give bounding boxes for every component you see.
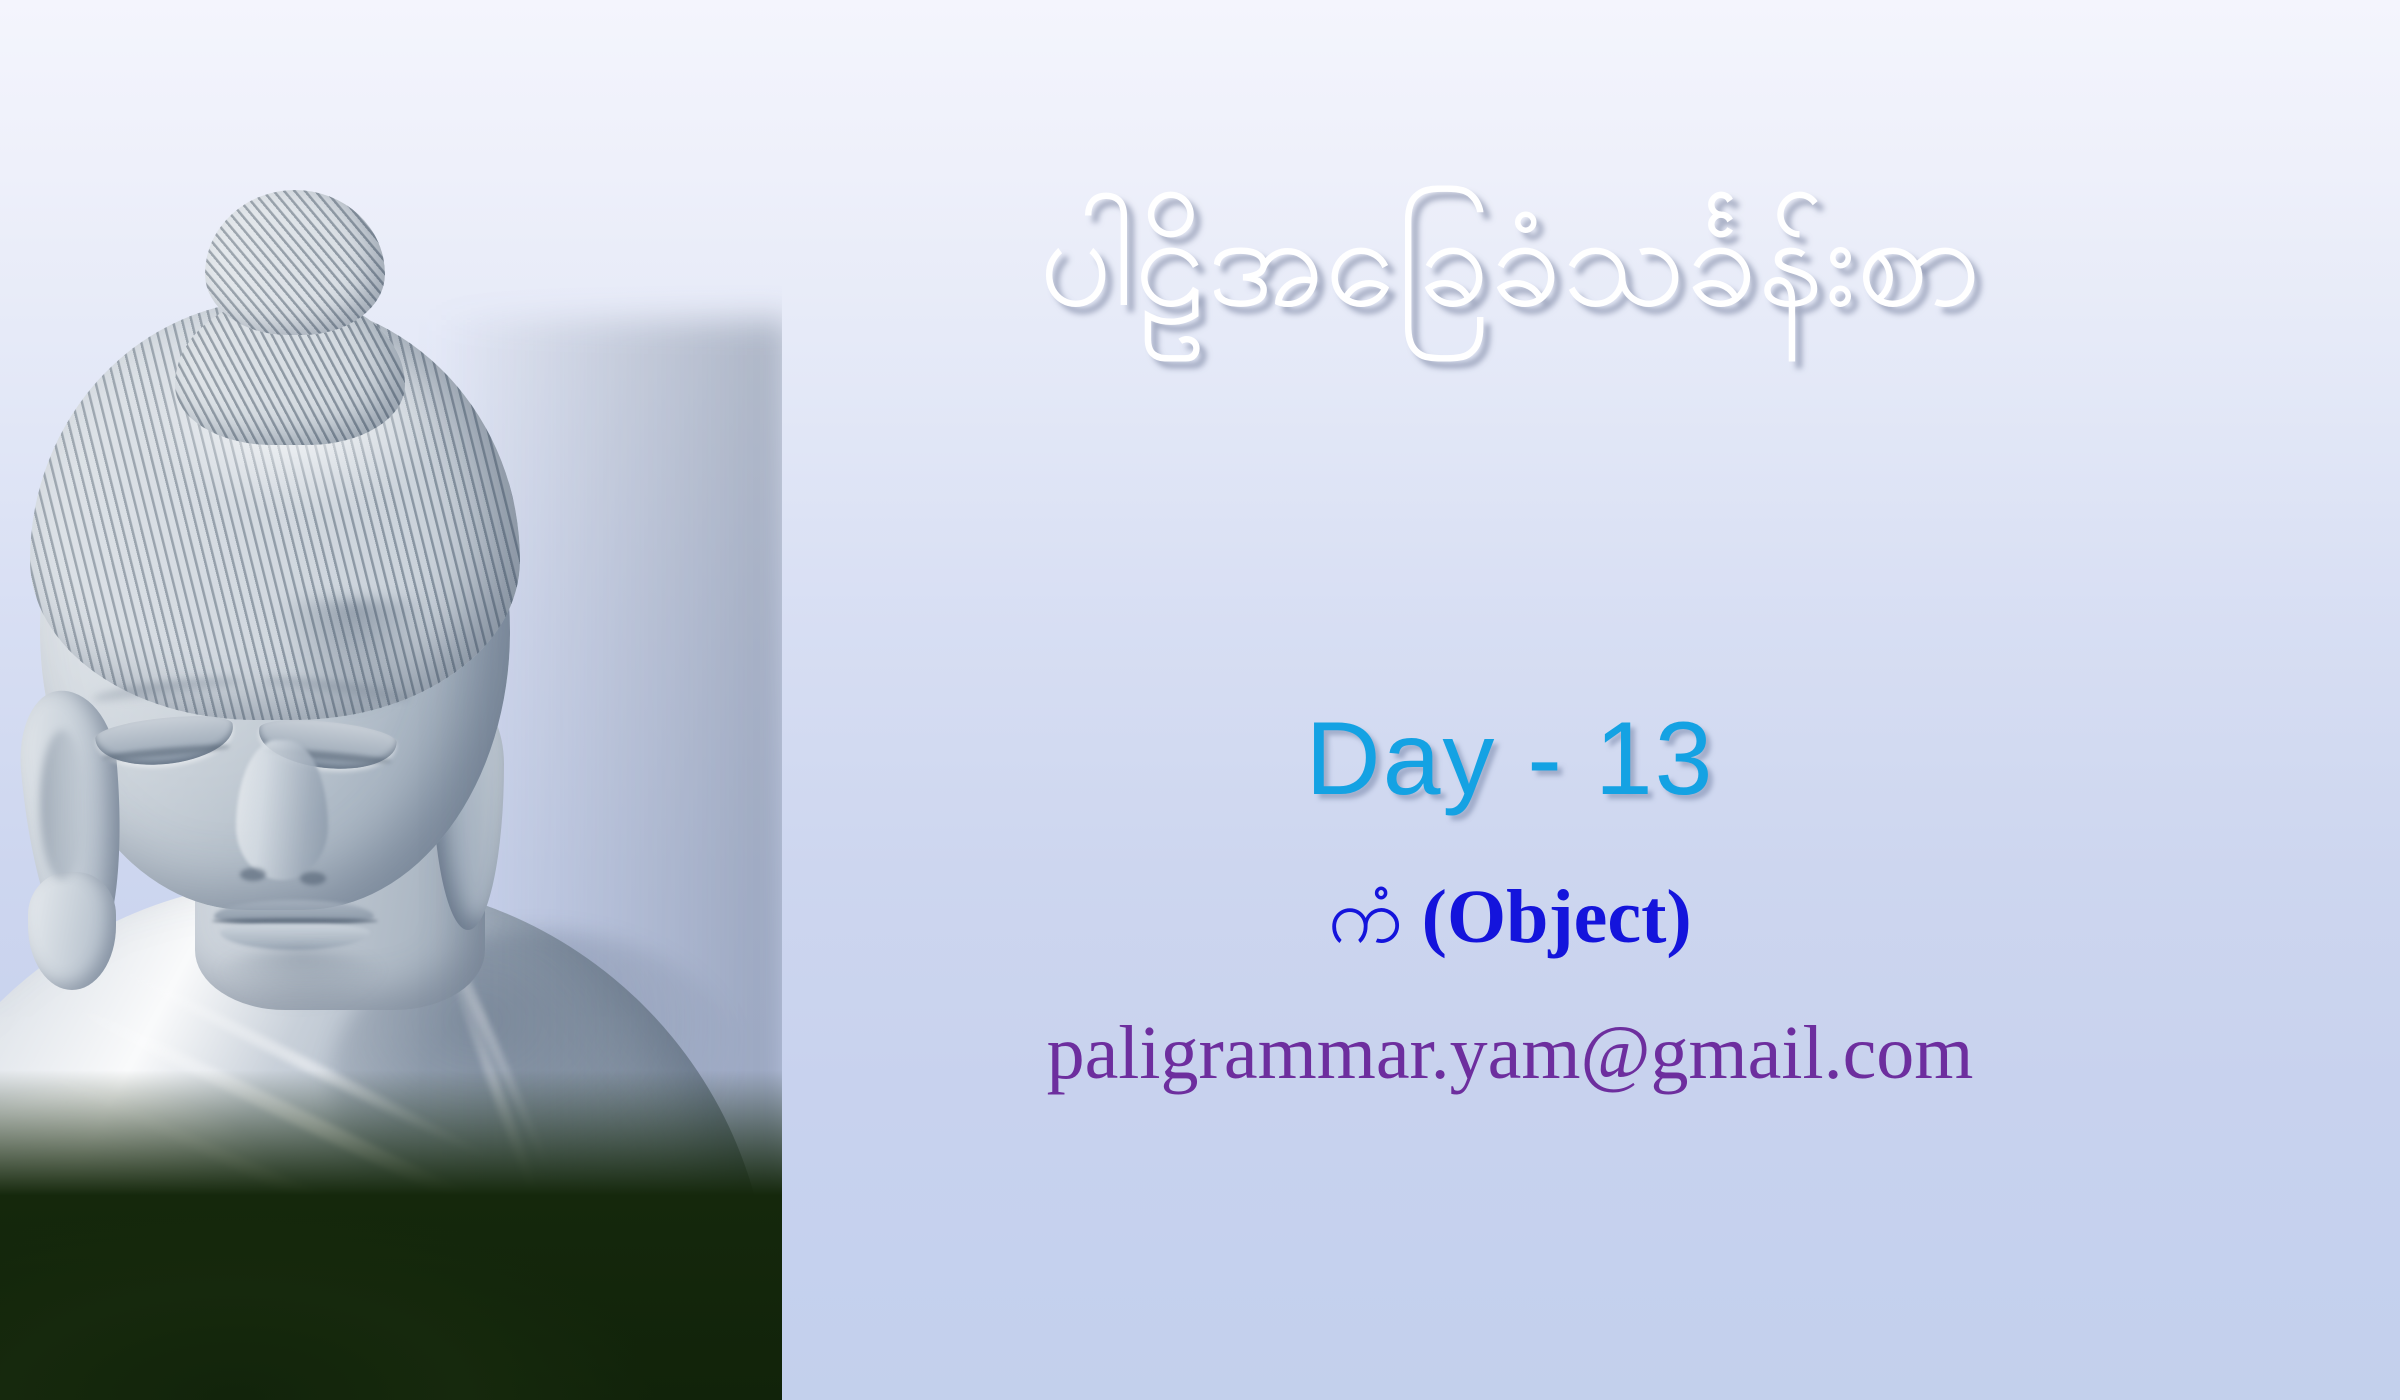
contact-email: paligrammar.yam@gmail.com (860, 1010, 2160, 1097)
page-title: ပါဠိအခြေခံသင်္ခန်းစာ (860, 182, 2160, 342)
statue-nostril-left (240, 868, 266, 881)
statue-ear-inner-left (40, 730, 84, 880)
foliage-backdrop (0, 1070, 782, 1400)
topic-gloss: (Object) (1422, 875, 1692, 959)
statue-hair-part (280, 600, 430, 720)
topic-term-mm: ကံ (1328, 874, 1402, 959)
buddha-statue-image (0, 0, 782, 1400)
statue-nose (236, 740, 328, 880)
day-number-label: Day - 13 (860, 700, 2160, 819)
title-slide: ပါဠိအခြေခံသင်္ခန်းစာ Day - 13 ကံ (Object… (0, 0, 2400, 1400)
topic-line: ကံ (Object) (860, 868, 2160, 980)
statue-nostril-right (300, 872, 326, 885)
statue-chin-shadow (210, 950, 390, 1010)
